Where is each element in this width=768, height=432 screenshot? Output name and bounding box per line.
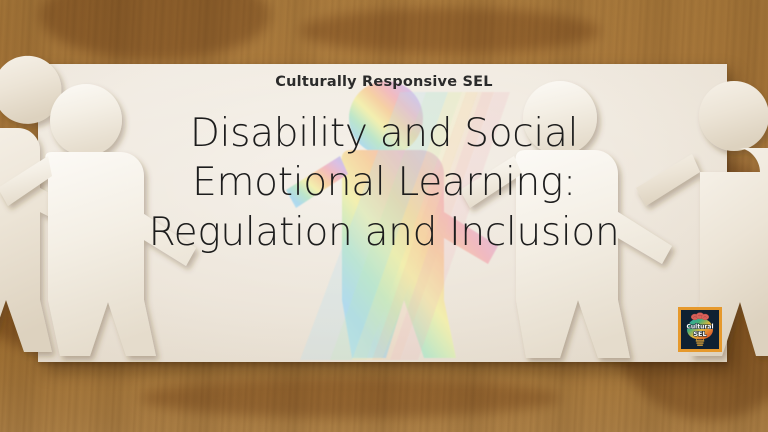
logo-word-sel: SEL xyxy=(693,330,706,338)
cultural-sel-logo[interactable]: Cultural SEL xyxy=(678,307,722,352)
title-card xyxy=(38,64,727,362)
cultural-sel-logo-icon: Cultural SEL xyxy=(681,310,719,349)
card-light-overlay xyxy=(38,64,727,362)
slide-canvas: Culturally Responsive SEL Disability and… xyxy=(0,0,768,432)
